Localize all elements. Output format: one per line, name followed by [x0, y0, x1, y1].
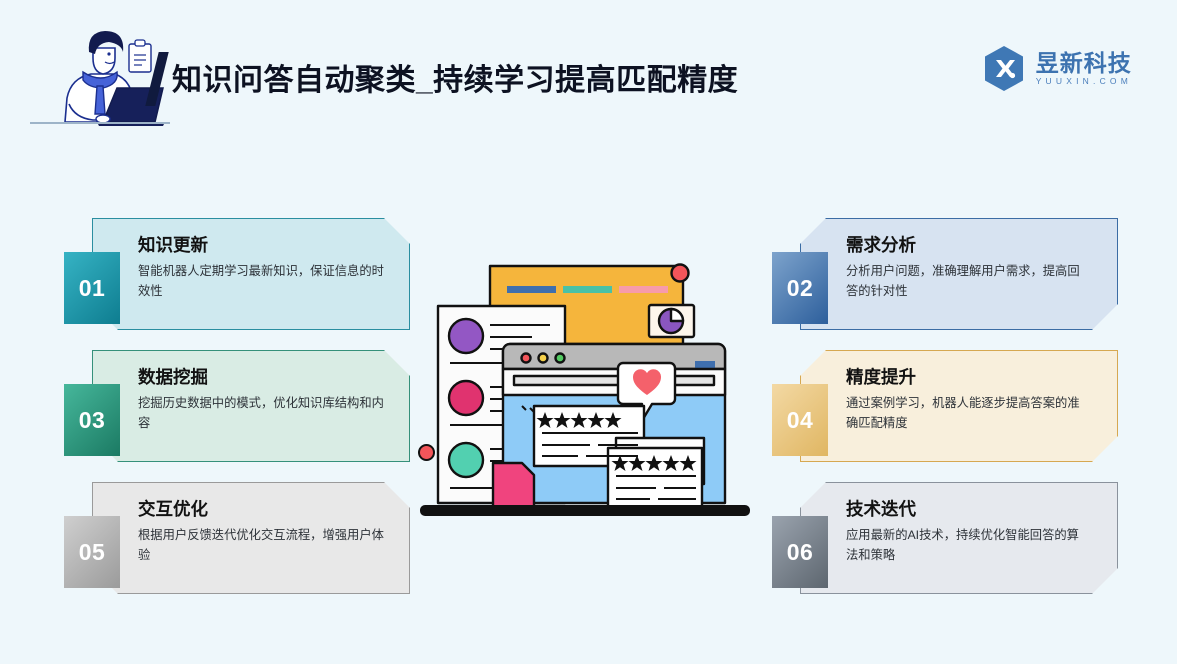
page-title: 知识问答自动聚类_持续学习提高匹配精度	[172, 55, 738, 99]
feature-card-title: 技术迭代	[846, 499, 1088, 519]
red-accent-dot	[418, 444, 435, 461]
slide-header: 知识问答自动聚类_持续学习提高匹配精度 昱新科技 YUUXIN.COM	[0, 0, 1177, 150]
feature-card-desc: 智能机器人定期学习最新知识，保证信息的时效性	[138, 262, 388, 302]
feature-card-title: 知识更新	[138, 235, 388, 255]
feature-card-desc: 挖掘历史数据中的模式，优化知识库结构和内容	[138, 394, 388, 434]
brand-logo: 昱新科技 YUUXIN.COM	[982, 45, 1132, 92]
feature-card-title: 交互优化	[138, 499, 388, 519]
feature-card-title: 精度提升	[846, 367, 1088, 387]
person-with-laptop-illustration	[45, 22, 167, 130]
badge-number: 06	[787, 539, 814, 566]
feature-card-number-badge: 02	[772, 252, 828, 324]
slide-canvas: 知识问答自动聚类_持续学习提高匹配精度 昱新科技 YUUXIN.COM	[0, 0, 1177, 664]
feature-card-number-badge: 03	[64, 384, 120, 456]
feature-card-text: 交互优化 根据用户反馈迭代优化交互流程，增强用户体验	[138, 499, 388, 566]
feature-card-text: 数据挖掘 挖掘历史数据中的模式，优化知识库结构和内容	[138, 367, 388, 434]
feature-card-01[interactable]: 01 知识更新 智能机器人定期学习最新知识，保证信息的时效性	[92, 218, 410, 330]
feature-card-desc: 分析用户问题，准确理解用户需求，提高回答的针对性	[846, 262, 1088, 302]
feature-card-number-badge: 05	[64, 516, 120, 588]
feature-card-06[interactable]: 06 技术迭代 应用最新的AI技术，持续优化智能回答的算法和策略	[800, 482, 1118, 594]
x-hexagon-logo-icon	[982, 45, 1026, 92]
feature-card-text: 需求分析 分析用户问题，准确理解用户需求，提高回答的针对性	[846, 235, 1088, 302]
feature-card-desc: 通过案例学习，机器人能逐步提高答案的准确匹配精度	[846, 394, 1088, 434]
feature-card-number-badge: 06	[772, 516, 828, 588]
badge-number: 05	[79, 539, 106, 566]
brand-name: 昱新科技	[1036, 52, 1132, 75]
feature-card-number-badge: 01	[64, 252, 120, 324]
badge-number: 03	[79, 407, 106, 434]
badge-number: 01	[79, 275, 106, 302]
feature-card-desc: 应用最新的AI技术，持续优化智能回答的算法和策略	[846, 526, 1088, 566]
brand-text-block: 昱新科技 YUUXIN.COM	[1036, 52, 1132, 86]
dashboard-reviews-illustration	[410, 248, 760, 523]
feature-card-04[interactable]: 04 精度提升 通过案例学习，机器人能逐步提高答案的准确匹配精度	[800, 350, 1118, 462]
feature-card-text: 技术迭代 应用最新的AI技术，持续优化智能回答的算法和策略	[846, 499, 1088, 566]
brand-domain: YUUXIN.COM	[1036, 77, 1132, 86]
badge-number: 04	[787, 407, 814, 434]
feature-card-title: 需求分析	[846, 235, 1088, 255]
feature-card-text: 精度提升 通过案例学习，机器人能逐步提高答案的准确匹配精度	[846, 367, 1088, 434]
feature-card-text: 知识更新 智能机器人定期学习最新知识，保证信息的时效性	[138, 235, 388, 302]
badge-number: 02	[787, 275, 814, 302]
feature-card-03[interactable]: 03 数据挖掘 挖掘历史数据中的模式，优化知识库结构和内容	[92, 350, 410, 462]
feature-card-02[interactable]: 02 需求分析 分析用户问题，准确理解用户需求，提高回答的针对性	[800, 218, 1118, 330]
feature-card-number-badge: 04	[772, 384, 828, 456]
feature-card-desc: 根据用户反馈迭代优化交互流程，增强用户体验	[138, 526, 388, 566]
feature-card-title: 数据挖掘	[138, 367, 388, 387]
feature-card-05[interactable]: 05 交互优化 根据用户反馈迭代优化交互流程，增强用户体验	[92, 482, 410, 594]
header-baseline-rule	[30, 122, 170, 124]
